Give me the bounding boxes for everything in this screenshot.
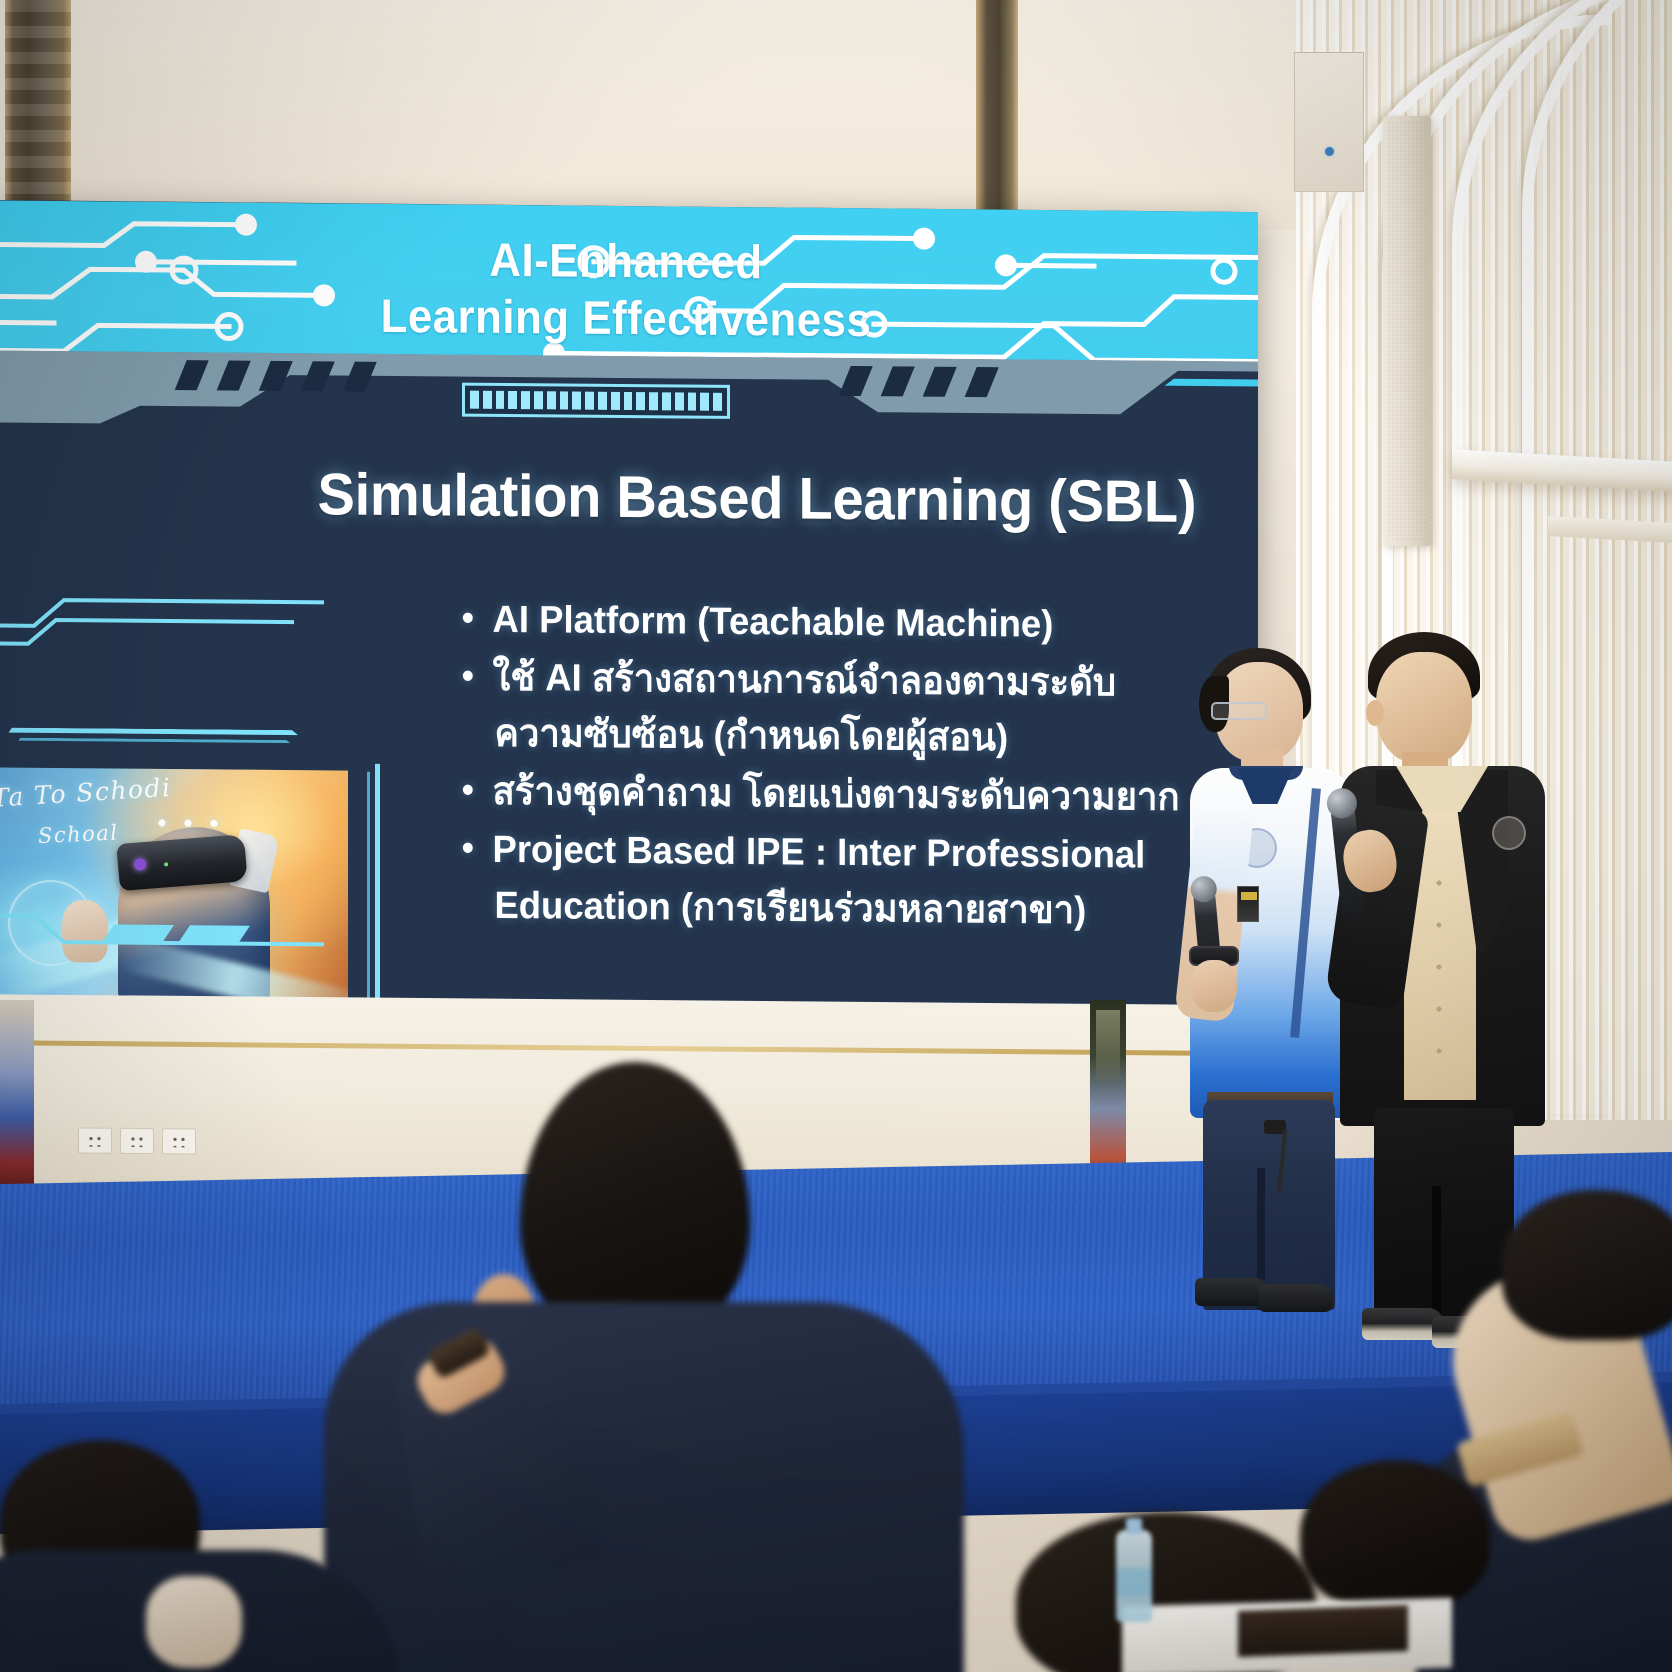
image-frame-inner [0,737,370,1012]
photo-scene: AI-Enhanced Learning Effectiveness [0,0,1672,1672]
glasses-icon [1211,702,1267,720]
bullet-text: Project Based IPE : Inter Professional [493,829,1146,877]
shoe [1195,1278,1269,1306]
hand [1191,960,1237,1012]
bullet-text: ใช้ AI สร้างสถานการณ์จำลองตามระดับ [493,657,1116,704]
pillar-left [5,0,71,212]
power-outlet [162,1128,196,1154]
list-item: AI Platform (Teachable Machine) [462,592,1220,655]
speaker-led [1325,147,1334,156]
list-item: สร้างชุดคำถาม โดยแบ่งตามระดับความยาก [462,764,1220,827]
ear [1366,700,1384,726]
shirt-buttons [1436,880,1442,1070]
bullet-text-continued: ความซับซ้อน (กำหนดโดยผู้สอน) [493,706,1221,768]
audience-member-left [0,1440,440,1672]
name-badge [1237,886,1259,922]
slide-body: Simulation Based Learning (SBL) AI Platf… [0,375,1258,1011]
column-speaker [1383,116,1431,546]
slide-header-title: AI-Enhanced Learning Effectiveness [38,227,1214,351]
shoe [1259,1284,1333,1312]
wall-gap-right [1090,1000,1126,1188]
head [1376,652,1472,764]
slide-header-title-line1: AI-Enhanced [38,227,1214,294]
bullet-text: สร้างชุดคำถาม โดยแบ่งตามระดับความยาก [493,771,1180,819]
list-item: Project Based IPE : Inter Professional E… [462,822,1220,941]
power-outlet [78,1127,112,1153]
power-outlet [120,1128,154,1154]
head [1502,1190,1672,1340]
led-presentation-screen: AI-Enhanced Learning Effectiveness [0,200,1258,1012]
bullet-text-continued: Education (การเรียนร่วมหลายสาขา) [493,878,1221,940]
power-outlets-left [78,1127,196,1154]
jacket-logo [1492,816,1526,850]
tablet-device [1238,1605,1408,1657]
hand [146,1576,242,1668]
water-bottle [1116,1530,1152,1622]
slide-title: Simulation Based Learning (SBL) [318,460,1211,536]
slide-image-frame: Ta To Schodi Schoal [0,727,380,1012]
bullet-text: AI Platform (Teachable Machine) [493,599,1054,646]
slide: AI-Enhanced Learning Effectiveness [0,200,1258,1011]
wall-gap-left [0,1000,34,1190]
slide-bullet-list: AI Platform (Teachable Machine) ใช้ AI ส… [462,592,1220,943]
wall-speaker-box [1294,52,1364,192]
head [520,1062,750,1342]
bottle-label [1116,1568,1152,1596]
slide-header-title-line2: Learning Effectiveness [38,284,1214,351]
pillar-mid [976,0,1018,210]
list-item: ใช้ AI สร้างสถานการณ์จำลองตามระดับ ความซ… [462,650,1220,769]
